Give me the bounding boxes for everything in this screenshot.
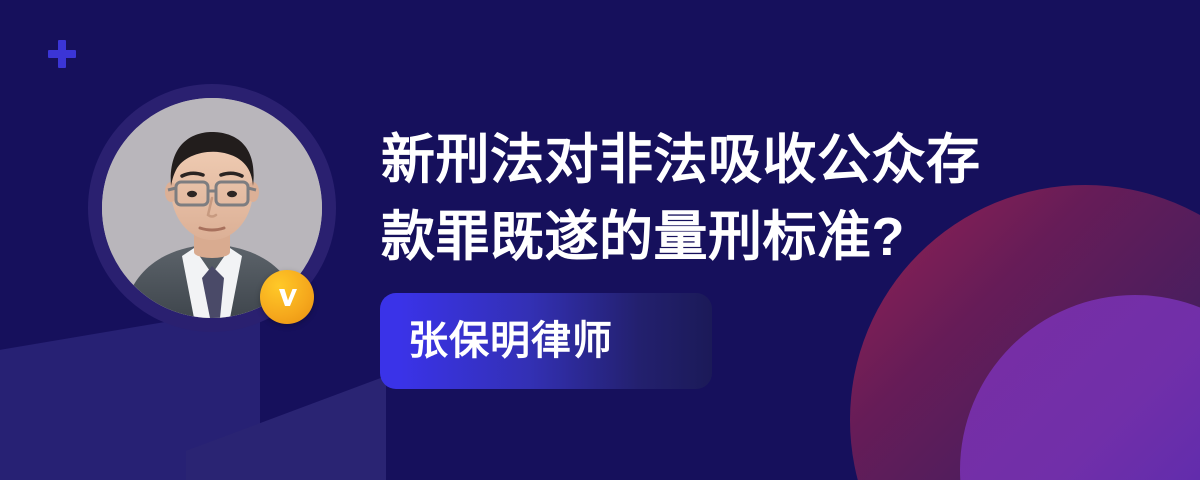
author-name-label: 张保明律师	[408, 321, 613, 361]
lawyer-qa-banner: 新刑法对非法吸收公众存 款罪既遂的量刑标准? 张保明律师	[0, 0, 1200, 480]
author-name-badge[interactable]: 张保明律师	[380, 293, 712, 389]
page-title: 新刑法对非法吸收公众存 款罪既遂的量刑标准?	[381, 122, 1041, 275]
headline-block: 新刑法对非法吸收公众存 款罪既遂的量刑标准?	[381, 122, 1041, 275]
plus-icon-bar-vertical	[58, 40, 66, 68]
avatar[interactable]	[88, 84, 336, 332]
plus-icon	[48, 40, 76, 68]
verified-v-icon	[260, 270, 314, 324]
